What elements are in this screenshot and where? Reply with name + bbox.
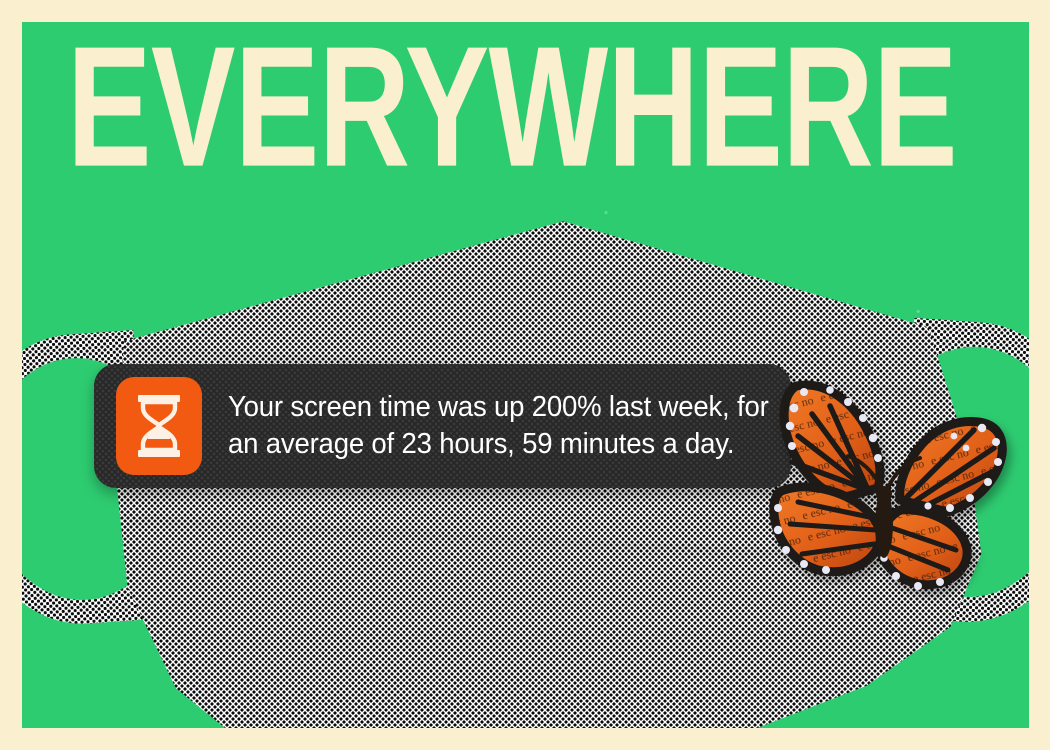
hourglass-icon — [116, 377, 202, 475]
monarch-butterfly: e esc no — [768, 378, 1008, 610]
poster-canvas: EVERYWHERE Your screen time was up 200% … — [0, 0, 1050, 750]
notification-line-1: Your screen time was up 200% last week, … — [228, 389, 769, 426]
notification-line-2: an average of 23 hours, 59 minutes a day… — [228, 426, 769, 463]
screen-time-notification-banner[interactable]: Your screen time was up 200% last week, … — [94, 364, 791, 488]
page-title: EVERYWHERE — [67, 34, 762, 179]
notification-message: Your screen time was up 200% last week, … — [228, 389, 769, 463]
